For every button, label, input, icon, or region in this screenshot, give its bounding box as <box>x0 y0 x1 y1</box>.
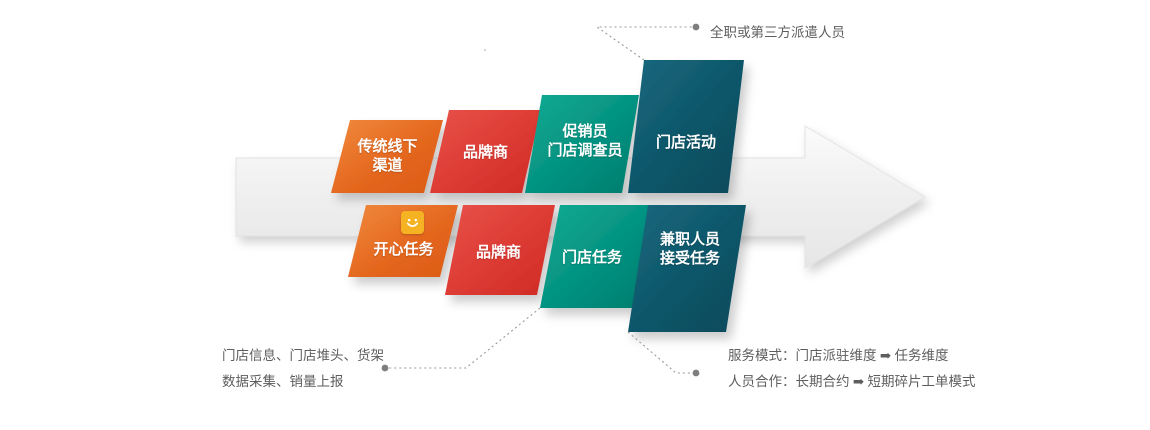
shape-top-4[interactable] <box>628 60 744 193</box>
annotation-top-right: 全职或第三方派遣人员 <box>710 20 845 46</box>
diagram-graphics <box>0 0 1150 430</box>
top-row-shapes <box>331 60 744 193</box>
annotation-bottom-left-line-1: 门店信息、门店堆头、货架 <box>222 343 384 369</box>
smiley-icon <box>401 211 424 234</box>
annotation-bottom-right: 服务模式：门店派驻维度 ➡ 任务维度 人员合作：长期合约 ➡ 短期碎片工单模式 <box>728 343 976 394</box>
leader-line-top-right <box>597 27 694 60</box>
stray-dot <box>484 49 486 51</box>
leader-dot-top-right <box>693 24 700 31</box>
annotation-bottom-right-line-2: 人员合作：长期合约 ➡ 短期碎片工单模式 <box>728 369 976 395</box>
shape-top-2[interactable] <box>430 110 541 193</box>
leader-dot-bottom-right <box>693 370 700 377</box>
shape-top-1[interactable] <box>331 120 443 193</box>
leader-line-bottom-right <box>628 332 694 373</box>
shape-top-3[interactable] <box>525 95 639 193</box>
annotation-bottom-left-line-2: 数据采集、销量上报 <box>222 369 384 395</box>
diagram-canvas: 传统线下 渠道 品牌商 促销员 门店调查员 门店活动 开心任务 品牌商 门店任务… <box>0 0 1150 430</box>
annotation-top-right-line-1: 全职或第三方派遣人员 <box>710 20 845 46</box>
shape-bottom-2[interactable] <box>445 205 555 295</box>
annotation-bottom-right-line-1: 服务模式：门店派驻维度 ➡ 任务维度 <box>728 343 976 369</box>
leader-line-bottom-left <box>387 308 540 368</box>
annotation-bottom-left: 门店信息、门店堆头、货架 数据采集、销量上报 <box>222 343 384 394</box>
smiley-glyph <box>401 211 424 234</box>
shape-bottom-4[interactable] <box>628 205 746 332</box>
